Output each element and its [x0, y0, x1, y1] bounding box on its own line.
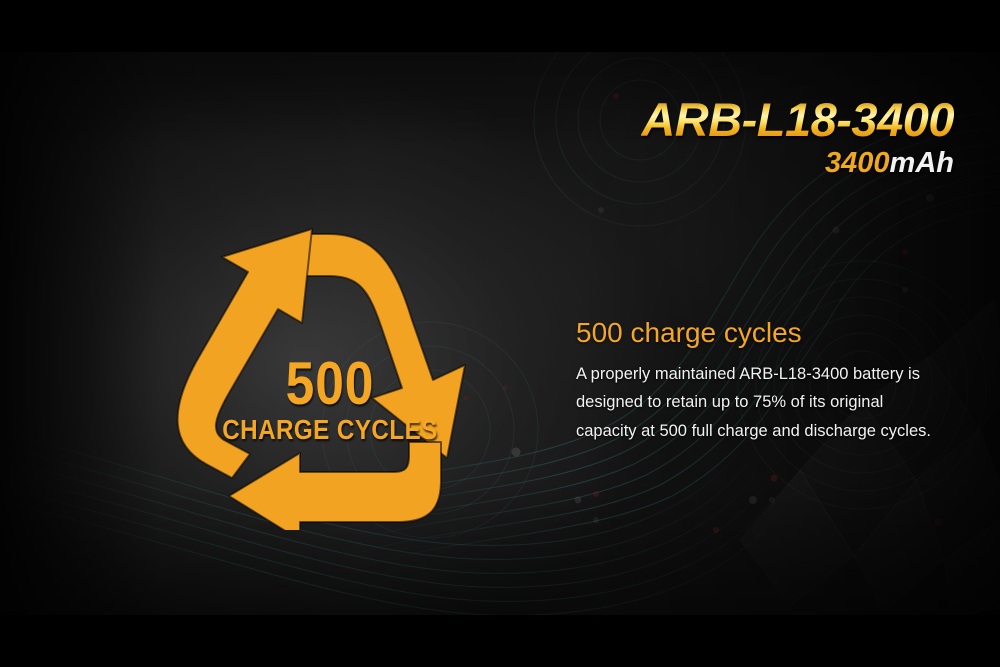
recycle-arrows-icon [150, 210, 510, 530]
letterbox-bottom [0, 615, 1000, 667]
title-block: ARB-L18-3400 3400mAh [641, 96, 954, 178]
letterbox-top [0, 0, 1000, 52]
capacity-value: 3400 [825, 147, 890, 179]
product-title: ARB-L18-3400 [641, 96, 954, 143]
feature-heading: 500 charge cycles [576, 318, 948, 349]
capacity-label: 3400mAh [641, 149, 954, 178]
banner-canvas: 500 CHARGE CYCLES ARB-L18-3400 3400mAh 5… [0, 0, 1000, 667]
feature-copy-block: 500 charge cycles A properly maintained … [576, 318, 948, 445]
feature-body: A properly maintained ARB-L18-3400 batte… [576, 360, 948, 445]
capacity-unit: mAh [890, 147, 954, 179]
